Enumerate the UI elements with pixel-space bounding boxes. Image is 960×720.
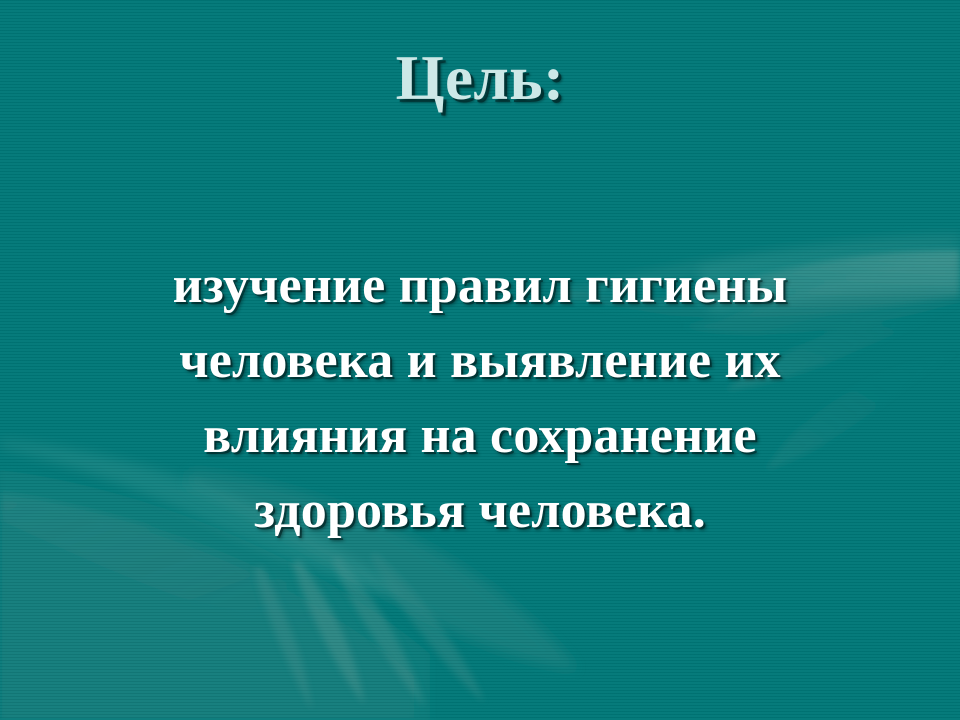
presentation-slide: Цель: изучение правил гигиены человека и… xyxy=(0,0,960,720)
body-line-4: здоровья человека. xyxy=(60,473,900,548)
slide-content: Цель: изучение правил гигиены человека и… xyxy=(0,0,960,720)
body-line-3: влияния на сохранение xyxy=(60,398,900,473)
body-line-1: изучение правил гигиены xyxy=(60,248,900,323)
body-line-2: человека и выявление их xyxy=(60,323,900,398)
slide-title: Цель: xyxy=(0,44,960,112)
slide-body: изучение правил гигиены человека и выявл… xyxy=(60,248,900,548)
